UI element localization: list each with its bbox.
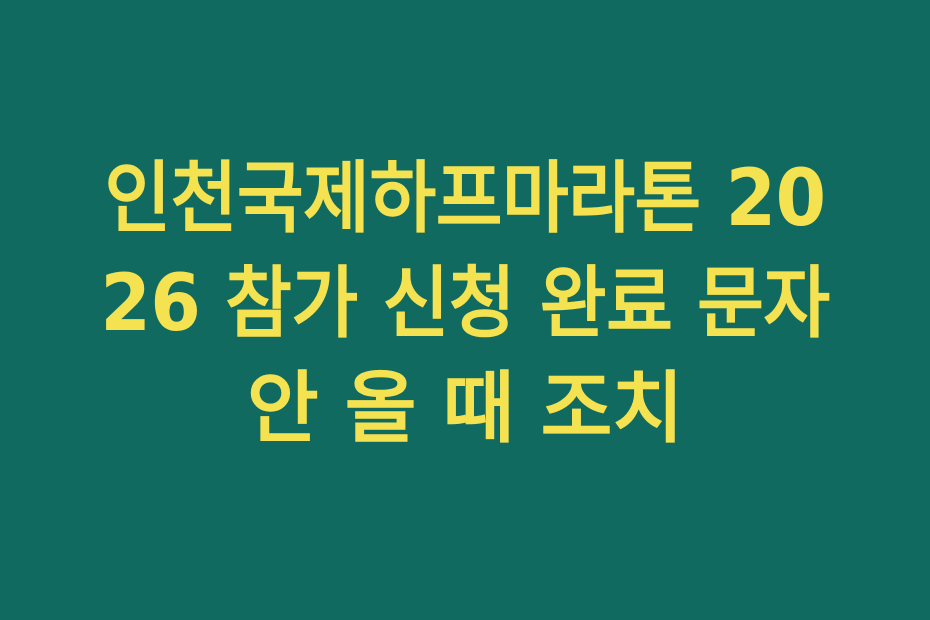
headline-line-3: 안 올 때 조치 bbox=[35, 357, 895, 462]
headline-line-2: 26 참가 신청 완료 문자 bbox=[65, 252, 865, 357]
headline-line-1: 인천국제하프마라톤 20 bbox=[65, 147, 865, 252]
page-title: 인천국제하프마라톤 20 26 참가 신청 완료 문자 안 올 때 조치 bbox=[35, 147, 895, 462]
banner-canvas: 인천국제하프마라톤 20 26 참가 신청 완료 문자 안 올 때 조치 bbox=[0, 0, 930, 620]
